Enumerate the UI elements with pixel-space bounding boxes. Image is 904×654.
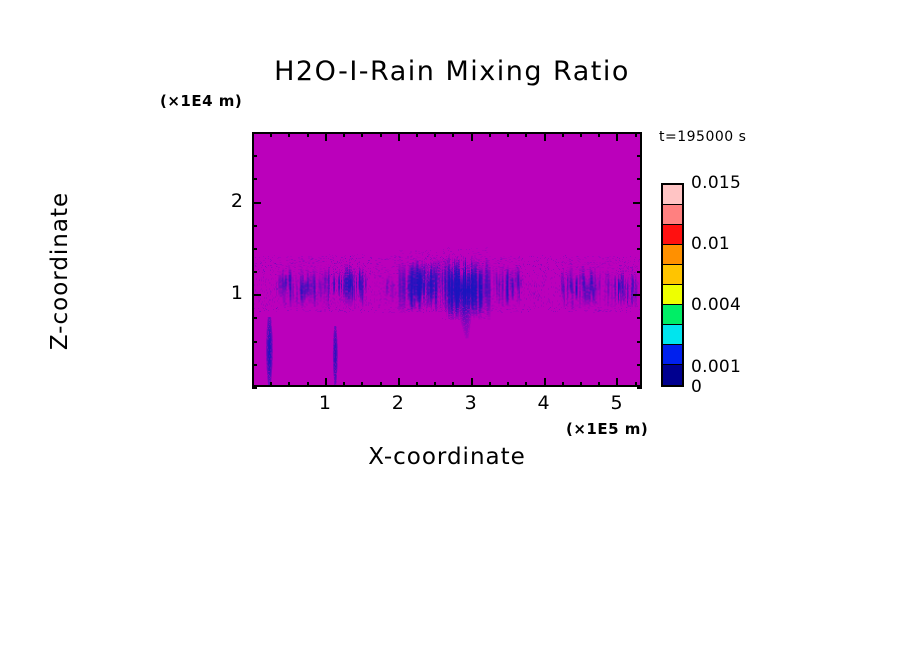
axis-tick [380,132,382,137]
axis-tick [252,387,257,389]
colorbar-segment [663,285,682,305]
axis-tick [452,382,454,387]
x-tick-label: 4 [524,392,564,414]
axis-tick [325,378,327,387]
axis-tick [252,132,257,134]
colorbar-segment [663,365,682,385]
axis-tick [252,225,257,227]
y-tick-label: 1 [203,282,243,304]
axis-tick [270,382,272,387]
colorbar-segment [663,185,682,205]
colorbar-segment [663,225,682,245]
axis-tick [252,271,257,273]
axis-tick [252,155,257,157]
axis-tick [361,132,363,137]
colorbar-segment [663,325,682,345]
axis-tick [252,248,257,250]
colorbar-tick-label: 0.015 [691,173,741,193]
axis-tick [252,317,257,319]
colorbar-segment [663,205,682,225]
axis-tick [252,202,261,204]
time-annotation: t=195000 s [659,129,746,145]
axis-tick [637,341,642,343]
axis-tick [471,132,473,141]
axis-tick [343,132,345,137]
axis-tick [434,132,436,137]
axis-tick [507,132,509,137]
x-tick-label: 3 [451,392,491,414]
axis-tick [598,382,600,387]
axis-tick [637,225,642,227]
axis-tick [489,382,491,387]
axis-tick [489,132,491,137]
axis-tick [637,387,642,389]
colorbar-tick-label: 0.001 [691,357,741,377]
axis-tick [562,132,564,137]
axis-tick [343,382,345,387]
colorbar [661,183,684,387]
colorbar-segment [663,305,682,325]
axis-tick [361,382,363,387]
x-axis-title: X-coordinate [252,444,642,470]
axis-tick [252,341,257,343]
page-title: H2O-I-Rain Mixing Ratio [0,56,904,87]
axis-tick [416,132,418,137]
figure-canvas: H2O-I-Rain Mixing Ratio (×1E4 m) (×1E5 m… [0,0,904,654]
y-axis-unit-label: (×1E4 m) [160,92,242,110]
axis-tick [471,378,473,387]
colorbar-tick-label: 0 [691,377,702,397]
axis-tick [452,132,454,137]
axis-tick [637,132,642,134]
axis-tick [307,132,309,137]
y-axis-title: Z-coordinate [47,151,73,391]
y-tick-label: 2 [203,190,243,212]
x-axis-unit-label: (×1E5 m) [566,420,648,438]
axis-tick [637,155,642,157]
axis-tick [580,382,582,387]
x-tick-label: 1 [305,392,345,414]
colorbar-tick-label: 0.004 [691,295,741,315]
axis-tick [398,132,400,141]
axis-tick [637,271,642,273]
colorbar-segment [663,265,682,285]
axis-tick [544,378,546,387]
x-tick-label: 5 [596,392,636,414]
axis-tick [398,378,400,387]
axis-tick [270,132,272,137]
axis-tick [525,132,527,137]
axis-tick [637,178,642,180]
colorbar-tick-label: 0.01 [691,234,730,254]
axis-tick [325,132,327,141]
x-tick-label: 2 [378,392,418,414]
axis-tick [252,178,257,180]
axis-tick [288,382,290,387]
heatmap-field [254,134,640,385]
axis-tick [598,132,600,137]
axis-tick [288,132,290,137]
axis-tick [252,294,261,296]
axis-tick [416,382,418,387]
colorbar-segment [663,245,682,265]
plot-area [252,132,642,387]
axis-tick [507,382,509,387]
axis-tick [434,382,436,387]
axis-tick [307,382,309,387]
axis-tick [637,248,642,250]
axis-tick [637,364,642,366]
axis-tick [525,382,527,387]
axis-tick [616,132,618,141]
axis-tick [637,317,642,319]
axis-tick [633,294,642,296]
axis-tick [544,132,546,141]
axis-tick [633,202,642,204]
axis-tick [616,378,618,387]
axis-tick [380,382,382,387]
axis-tick [562,382,564,387]
axis-tick [252,364,257,366]
axis-tick [580,132,582,137]
colorbar-segment [663,345,682,365]
